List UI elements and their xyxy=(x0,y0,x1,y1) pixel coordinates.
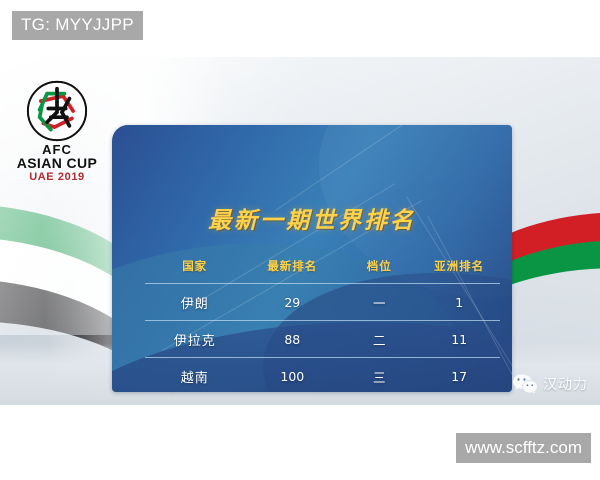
afc-emblem-icon xyxy=(26,80,88,142)
logo-text-uae-2019: UAE 2019 xyxy=(15,171,99,183)
tg-overlay-tag: TG: MYYJJPP xyxy=(12,11,143,40)
table-row: 越南 100 三 17 xyxy=(145,358,500,393)
cell-asia-rank: 1 xyxy=(418,284,500,321)
cell-asia-rank: 17 xyxy=(418,358,500,393)
column-header-world-rank: 最新排名 xyxy=(244,258,340,284)
column-header-country: 国家 xyxy=(145,258,244,284)
url-overlay-tag: www.scfftz.com xyxy=(456,433,591,463)
column-header-asia-rank: 亚洲排名 xyxy=(418,258,500,284)
logo-text-asian-cup: ASIAN CUP xyxy=(15,156,99,171)
cell-country: 伊朗 xyxy=(145,284,244,321)
card-hairline-5 xyxy=(275,125,408,211)
cell-asia-rank: 11 xyxy=(418,321,500,358)
afc-asian-cup-logo: AFC ASIAN CUP UAE 2019 xyxy=(15,80,99,183)
column-header-pot: 档位 xyxy=(340,258,418,284)
cell-pot: 一 xyxy=(340,284,418,321)
cell-country: 越南 xyxy=(145,358,244,393)
ranking-card: 最新一期世界排名 国家 最新排名 档位 亚洲排名 伊朗 29 一 1 伊拉克 xyxy=(112,125,512,392)
table-row: 伊朗 29 一 1 xyxy=(145,284,500,321)
poster-image: AFC ASIAN CUP UAE 2019 最新一期世界排名 国家 最新排名 … xyxy=(0,57,600,405)
wechat-watermark: 汉动力 xyxy=(512,373,588,395)
card-title: 最新一期世界排名 xyxy=(112,201,512,235)
cell-country: 伊拉克 xyxy=(145,321,244,358)
cell-world-rank: 29 xyxy=(244,284,340,321)
wechat-account-name: 汉动力 xyxy=(543,374,588,394)
table-row: 伊拉克 88 二 11 xyxy=(145,321,500,358)
cell-world-rank: 100 xyxy=(244,358,340,393)
wechat-icon xyxy=(512,373,538,395)
table-header-row: 国家 最新排名 档位 亚洲排名 xyxy=(145,258,500,284)
ranking-table: 国家 最新排名 档位 亚洲排名 伊朗 29 一 1 伊拉克 88 二 11 xyxy=(145,258,500,392)
cell-world-rank: 88 xyxy=(244,321,340,358)
cell-pot: 二 xyxy=(340,321,418,358)
cell-pot: 三 xyxy=(340,358,418,393)
